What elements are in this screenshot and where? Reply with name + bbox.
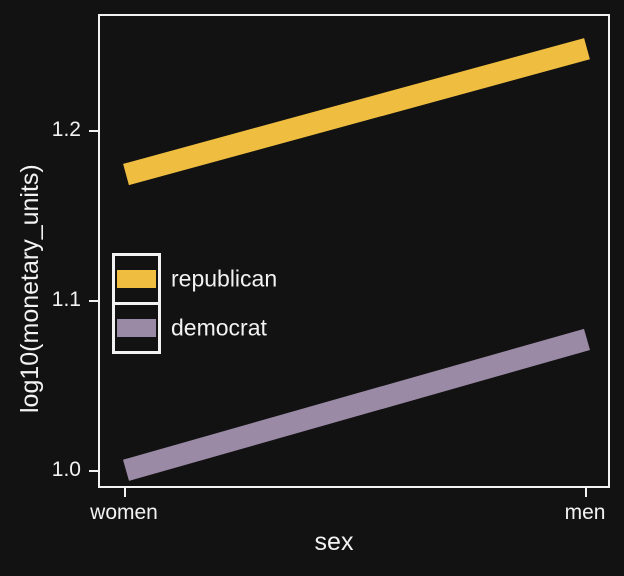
legend-item-republican[interactable]: republican [115, 256, 158, 302]
y-axis-title: log10(monetary_units) [16, 164, 45, 413]
plot-panel [98, 14, 610, 488]
line-series-democrat [126, 339, 587, 470]
line-series-republican [126, 49, 587, 175]
legend-swatch-republican [117, 270, 156, 288]
y-tick-label-1.1: 1.1 [52, 288, 81, 312]
legend: republican democrat [112, 253, 161, 354]
x-tick-label-women: women [90, 501, 158, 525]
y-tick-mark-1.2 [89, 130, 98, 132]
y-tick-mark-1.1 [89, 300, 98, 302]
series-lines [100, 16, 610, 488]
legend-item-democrat[interactable]: democrat [115, 302, 158, 351]
y-tick-mark-1.0 [89, 470, 98, 472]
y-tick-label-1.0: 1.0 [52, 458, 81, 482]
chart-figure: log10(monetary_units) 1.2 1.1 1.0 women … [0, 0, 624, 576]
legend-swatch-democrat [117, 319, 156, 337]
x-tick-label-men: men [565, 501, 606, 525]
legend-label-democrat: democrat [171, 315, 267, 342]
y-tick-label-1.2: 1.2 [52, 118, 81, 142]
x-axis-title-text: sex [315, 528, 354, 557]
x-axis-title: sex [0, 528, 624, 557]
legend-label-republican: republican [171, 266, 277, 293]
x-tick-mark-women [124, 488, 126, 497]
x-tick-mark-men [585, 488, 587, 497]
